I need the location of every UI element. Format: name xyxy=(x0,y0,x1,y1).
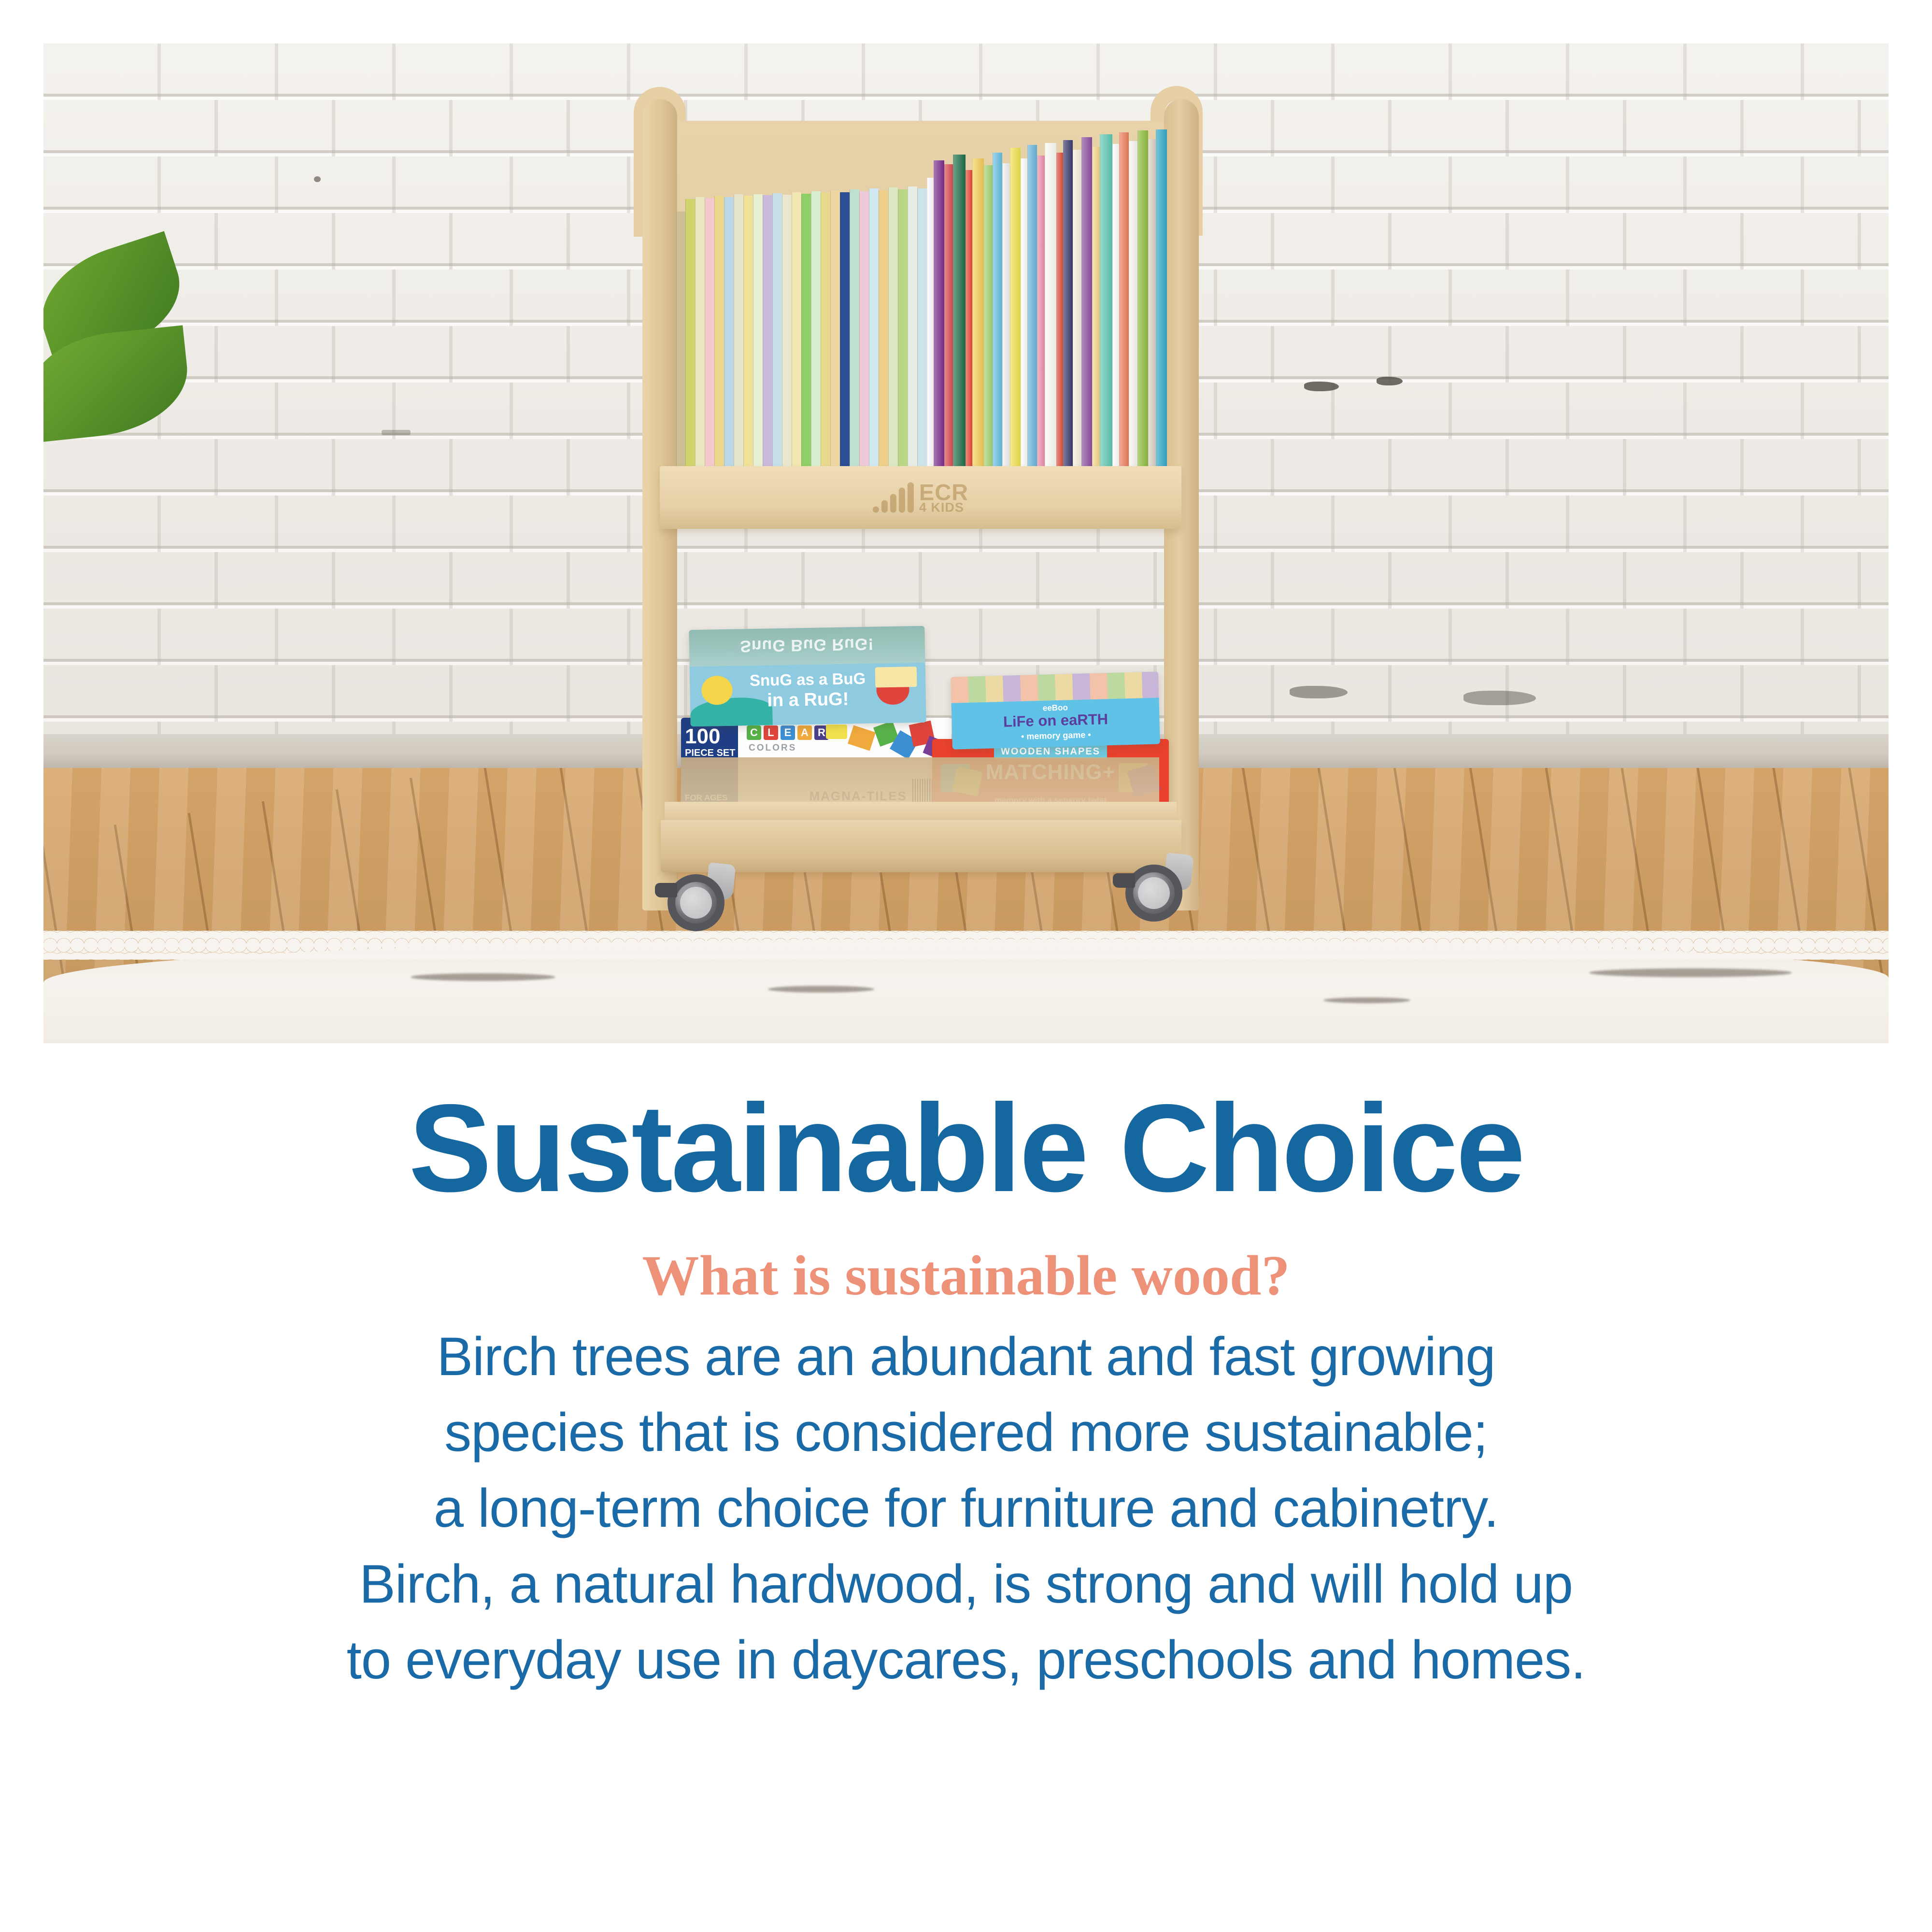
book-spine xyxy=(705,198,714,468)
box-lid-top: SnuG BuG RuG! xyxy=(689,626,925,667)
book-spine xyxy=(888,187,898,468)
book-spine xyxy=(869,188,879,468)
book-row-top-shelf xyxy=(676,129,1167,468)
product-photo: ECR 4 KIDS 100 PIECE SET FOR AGES CLEAR … xyxy=(43,43,1889,1043)
rug-marking xyxy=(1323,997,1410,1003)
book-spine xyxy=(1063,140,1073,468)
wall-blemish xyxy=(382,430,411,435)
book-spine xyxy=(676,212,685,468)
wall-chip xyxy=(1290,686,1348,698)
body-line: a long-term choice for furniture and cab… xyxy=(0,1471,1932,1547)
book-spine xyxy=(782,195,792,468)
book-spine xyxy=(1137,130,1148,468)
wall-chip xyxy=(1304,382,1339,391)
caster-hub xyxy=(1138,877,1170,909)
rug-marking xyxy=(411,973,555,981)
book-spine xyxy=(772,193,782,468)
tile-shape xyxy=(848,725,876,751)
copy-block: Sustainable Choice What is sustainable w… xyxy=(0,1082,1932,1698)
book-spine xyxy=(763,195,772,468)
tile-shape xyxy=(826,724,847,739)
book-spine xyxy=(734,194,743,468)
book-spine xyxy=(1037,156,1045,468)
book-spine xyxy=(898,189,908,468)
book-spine xyxy=(1045,143,1056,468)
cart-bottom-shelf-deck-inner xyxy=(681,757,1159,806)
book-spine xyxy=(821,193,830,468)
book-spine xyxy=(859,191,869,468)
piece-count: 100 xyxy=(685,724,720,749)
rug-marking xyxy=(1589,968,1792,977)
body-copy: Birch trees are an abundant and fast gro… xyxy=(0,1319,1932,1698)
caster-wheel-left xyxy=(668,874,729,936)
book-spine xyxy=(944,164,953,468)
snug-as-a-bug-box: SnuG BuG RuG! SnuG as a BuG in a RuG! xyxy=(689,626,926,726)
ecr-4-kids-logo: ECR 4 KIDS xyxy=(873,483,968,513)
book-spine xyxy=(879,190,888,468)
snug-title-line-2: in a RuG! xyxy=(690,688,926,713)
book-cart: ECR 4 KIDS 100 PIECE SET FOR AGES CLEAR … xyxy=(623,72,1261,1029)
body-line: to everyday use in daycares, preschools … xyxy=(0,1622,1932,1698)
body-line: species that is considered more sustaina… xyxy=(0,1395,1932,1471)
wall-chip xyxy=(1377,377,1403,385)
clear-colors-subtitle: COLORS xyxy=(749,743,796,753)
book-spine xyxy=(908,186,917,468)
caster-brake-lever xyxy=(655,883,677,897)
book-spine xyxy=(1119,132,1129,468)
book-spine xyxy=(953,155,966,468)
wall-chip xyxy=(1463,691,1536,705)
life-on-earth-box: eeBoo LiFe on eaRTH • memory game • xyxy=(951,671,1160,749)
book-spine xyxy=(934,160,944,468)
box-lid-top xyxy=(951,671,1159,703)
book-spine xyxy=(966,170,972,468)
book-spine xyxy=(1081,137,1092,468)
book-spine xyxy=(972,158,984,468)
book-spine xyxy=(850,189,859,468)
book-spine xyxy=(1129,141,1137,468)
book-spine xyxy=(1056,153,1063,468)
logo-bars-icon xyxy=(873,483,914,513)
book-spine xyxy=(1112,144,1119,468)
book-spine xyxy=(685,199,695,468)
book-spine xyxy=(1100,134,1112,468)
book-spine xyxy=(1156,129,1167,468)
cart-bottom-shelf-front xyxy=(661,820,1181,872)
book-spine xyxy=(1010,148,1021,468)
caster-wheel-right xyxy=(1125,865,1187,926)
book-spine xyxy=(801,194,811,468)
book-spine xyxy=(1002,163,1010,468)
book-spine xyxy=(695,197,705,468)
clear-colors-wordmark: CLEAR xyxy=(747,725,829,740)
book-spine xyxy=(917,188,927,468)
book-spine xyxy=(811,191,821,468)
book-spine xyxy=(792,192,801,468)
book-spine xyxy=(1021,158,1027,468)
box-lid-text: SnuG BuG RuG! xyxy=(740,634,874,655)
body-line: Birch, a natural hardwood, is strong and… xyxy=(0,1547,1932,1622)
book-spine xyxy=(984,165,993,468)
book-spine xyxy=(927,178,934,468)
book-spine xyxy=(1027,145,1037,468)
caster-brake-lever xyxy=(1113,873,1135,888)
book-spine xyxy=(724,197,734,468)
book-spine xyxy=(1148,139,1156,468)
book-spine xyxy=(714,196,724,468)
body-line: Birch trees are an abundant and fast gro… xyxy=(0,1319,1932,1395)
cart-top-shelf-front: ECR 4 KIDS xyxy=(660,466,1181,529)
book-spine xyxy=(1073,150,1081,468)
book-spine xyxy=(993,153,1002,468)
book-spine xyxy=(753,194,763,468)
wall-blemish xyxy=(314,176,321,182)
book-spine xyxy=(743,196,753,468)
book-spine xyxy=(840,192,850,468)
page-title: Sustainable Choice xyxy=(0,1082,1932,1214)
section-subtitle: What is sustainable wood? xyxy=(0,1243,1932,1308)
book-spine xyxy=(1092,147,1100,468)
logo-brand-tagline: 4 KIDS xyxy=(919,502,968,512)
caster-hub xyxy=(680,887,712,919)
book-spine xyxy=(830,190,840,468)
logo-brand-name: ECR xyxy=(919,483,968,502)
